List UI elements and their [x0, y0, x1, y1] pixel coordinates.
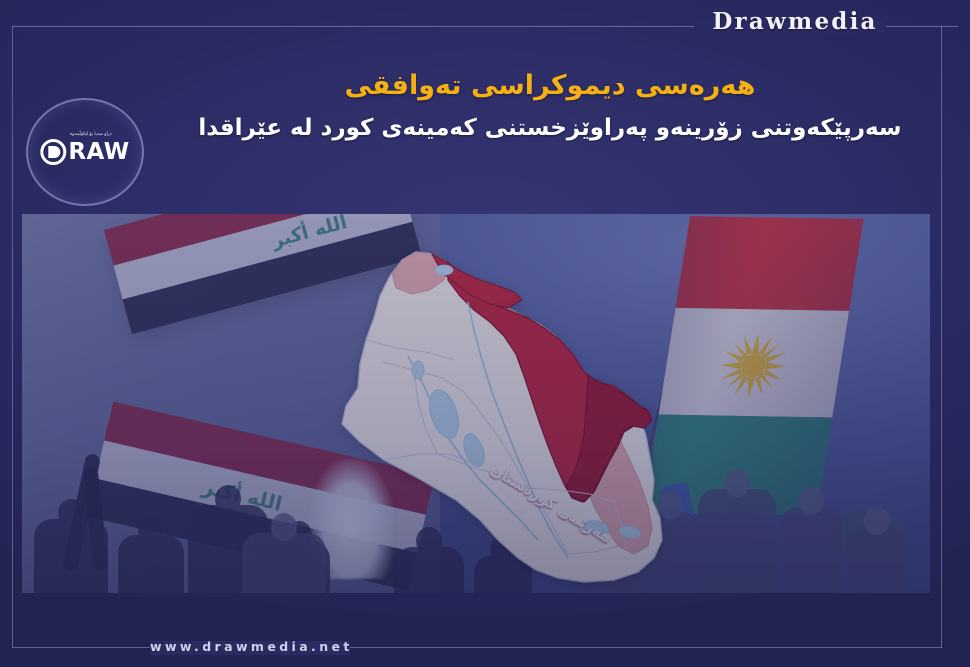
- kurdistan-sun-icon: [710, 328, 796, 402]
- logo-wordmark: RAW: [68, 141, 129, 164]
- footer-website-url: www.drawmedia.net: [150, 639, 350, 654]
- headline-primary: هەرەسی دیموکراسی تەوافقی: [150, 66, 950, 105]
- iraq-map: [322, 214, 682, 593]
- flag-stripe-red: [675, 216, 863, 311]
- draw-logo: RAW دراو میدیا بۆ لێکۆڵینەوە: [26, 98, 144, 206]
- logo-tagline: دراو میدیا بۆ لێکۆڵینەوە: [70, 132, 112, 137]
- brand-wordmark: Drawmedia: [700, 8, 890, 35]
- headline-secondary: سەرپێکەوتنی زۆرینەو پەراوێزخستنی کەمینەی…: [150, 111, 950, 146]
- logo-lockup: RAW: [40, 139, 129, 165]
- headline-block: هەرەسی دیموکراسی تەوافقی سەرپێکەوتنی زۆر…: [150, 66, 950, 146]
- logo-d-mark-icon: [40, 139, 66, 165]
- poster-canvas: Drawmedia RAW دراو میدیا بۆ لێکۆڵینەوە ه…: [0, 0, 970, 667]
- flag-stripe-white: [659, 308, 850, 418]
- hero-photo: الله أكبر الله أكبر: [22, 214, 930, 593]
- frame-left-rule: [12, 26, 13, 648]
